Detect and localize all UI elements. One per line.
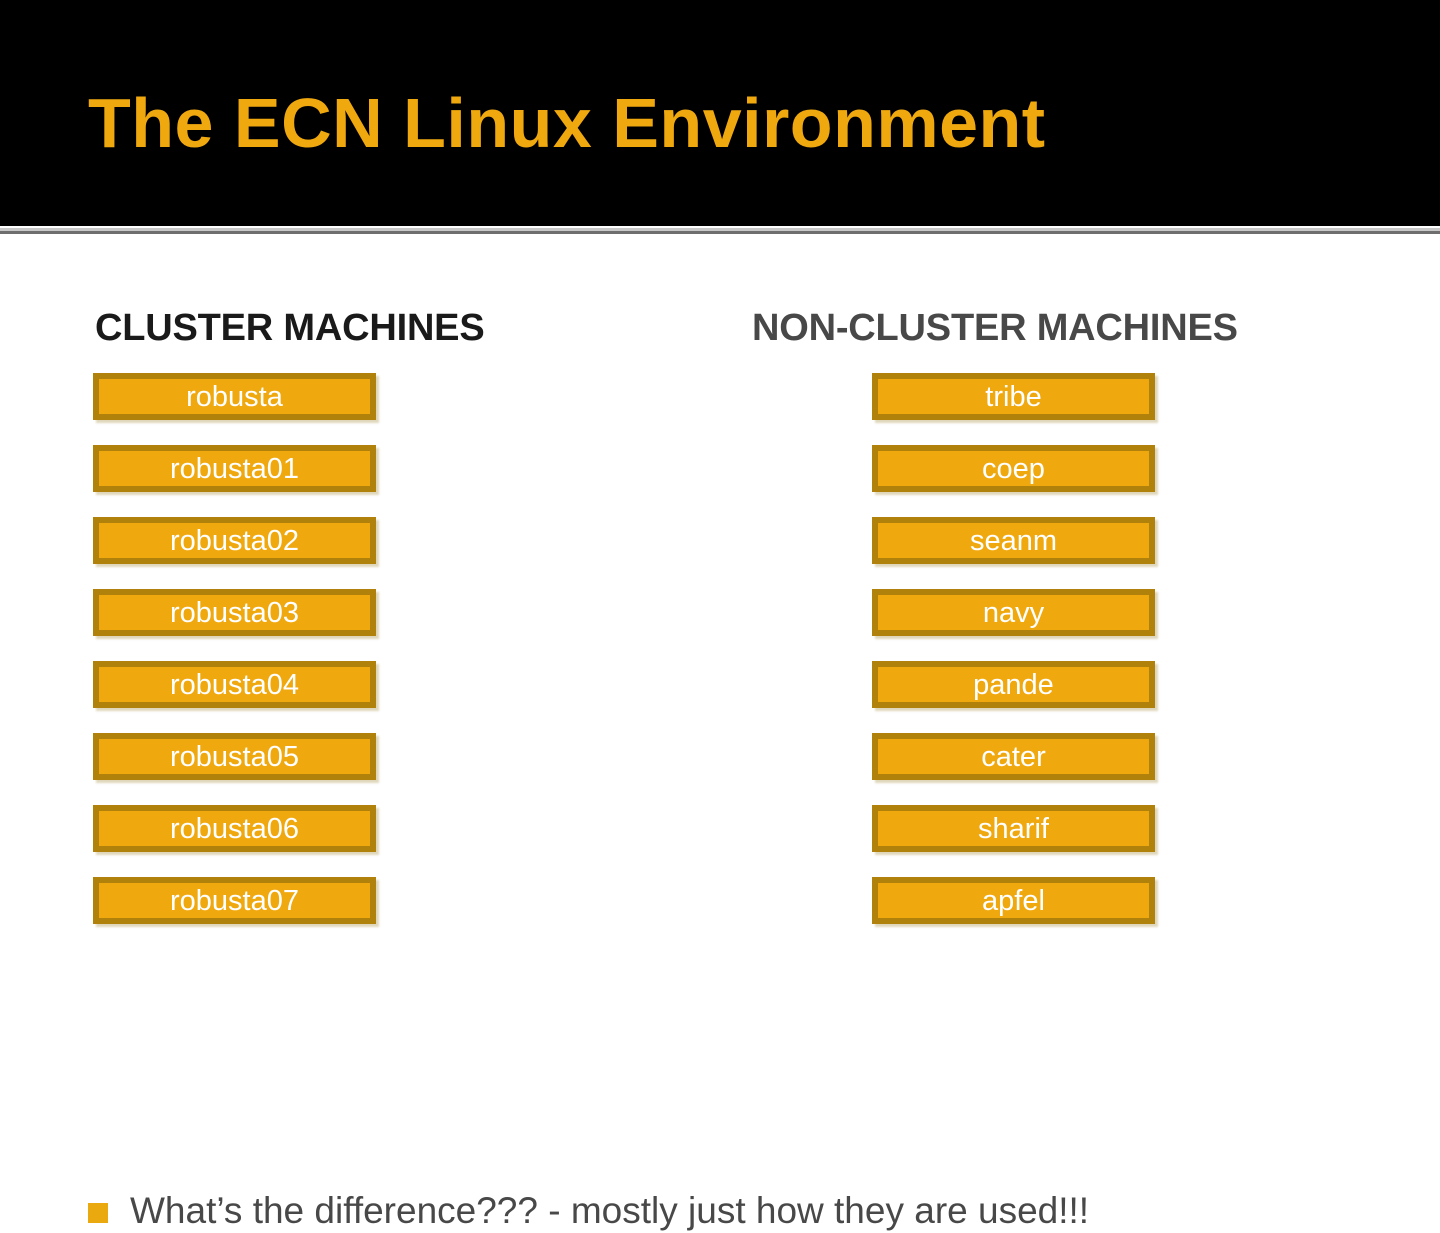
machine-box[interactable]: robusta [93, 373, 376, 420]
slide-header-band: The ECN Linux Environment [0, 0, 1440, 226]
machine-box[interactable]: robusta05 [93, 733, 376, 780]
machine-box[interactable]: robusta02 [93, 517, 376, 564]
column-heading-non-cluster: NON-CLUSTER MACHINES [752, 306, 1238, 350]
machine-box[interactable]: robusta07 [93, 877, 376, 924]
machine-box[interactable]: navy [872, 589, 1155, 636]
machine-box[interactable]: apfel [872, 877, 1155, 924]
machine-box[interactable]: robusta03 [93, 589, 376, 636]
footer-bullet-text: What’s the difference??? - mostly just h… [130, 1189, 1089, 1233]
machine-box[interactable]: seanm [872, 517, 1155, 564]
page-title: The ECN Linux Environment [88, 82, 1046, 164]
footer-bullet-row: What’s the difference??? - mostly just h… [88, 1189, 1089, 1233]
machine-box[interactable]: robusta04 [93, 661, 376, 708]
machine-list-cluster: robusta robusta01 robusta02 robusta03 ro… [93, 373, 376, 924]
machine-list-non-cluster: tribe coep seanm navy pande cater sharif… [872, 373, 1155, 924]
machine-box[interactable]: robusta01 [93, 445, 376, 492]
machine-box[interactable]: coep [872, 445, 1155, 492]
machine-box[interactable]: pande [872, 661, 1155, 708]
machine-box[interactable]: cater [872, 733, 1155, 780]
machine-box[interactable]: tribe [872, 373, 1155, 420]
slide-content: CLUSTER MACHINES robusta robusta01 robus… [0, 234, 1440, 1080]
machine-box[interactable]: robusta06 [93, 805, 376, 852]
machine-box[interactable]: sharif [872, 805, 1155, 852]
column-heading-cluster: CLUSTER MACHINES [95, 306, 484, 350]
square-bullet-icon [88, 1203, 108, 1223]
